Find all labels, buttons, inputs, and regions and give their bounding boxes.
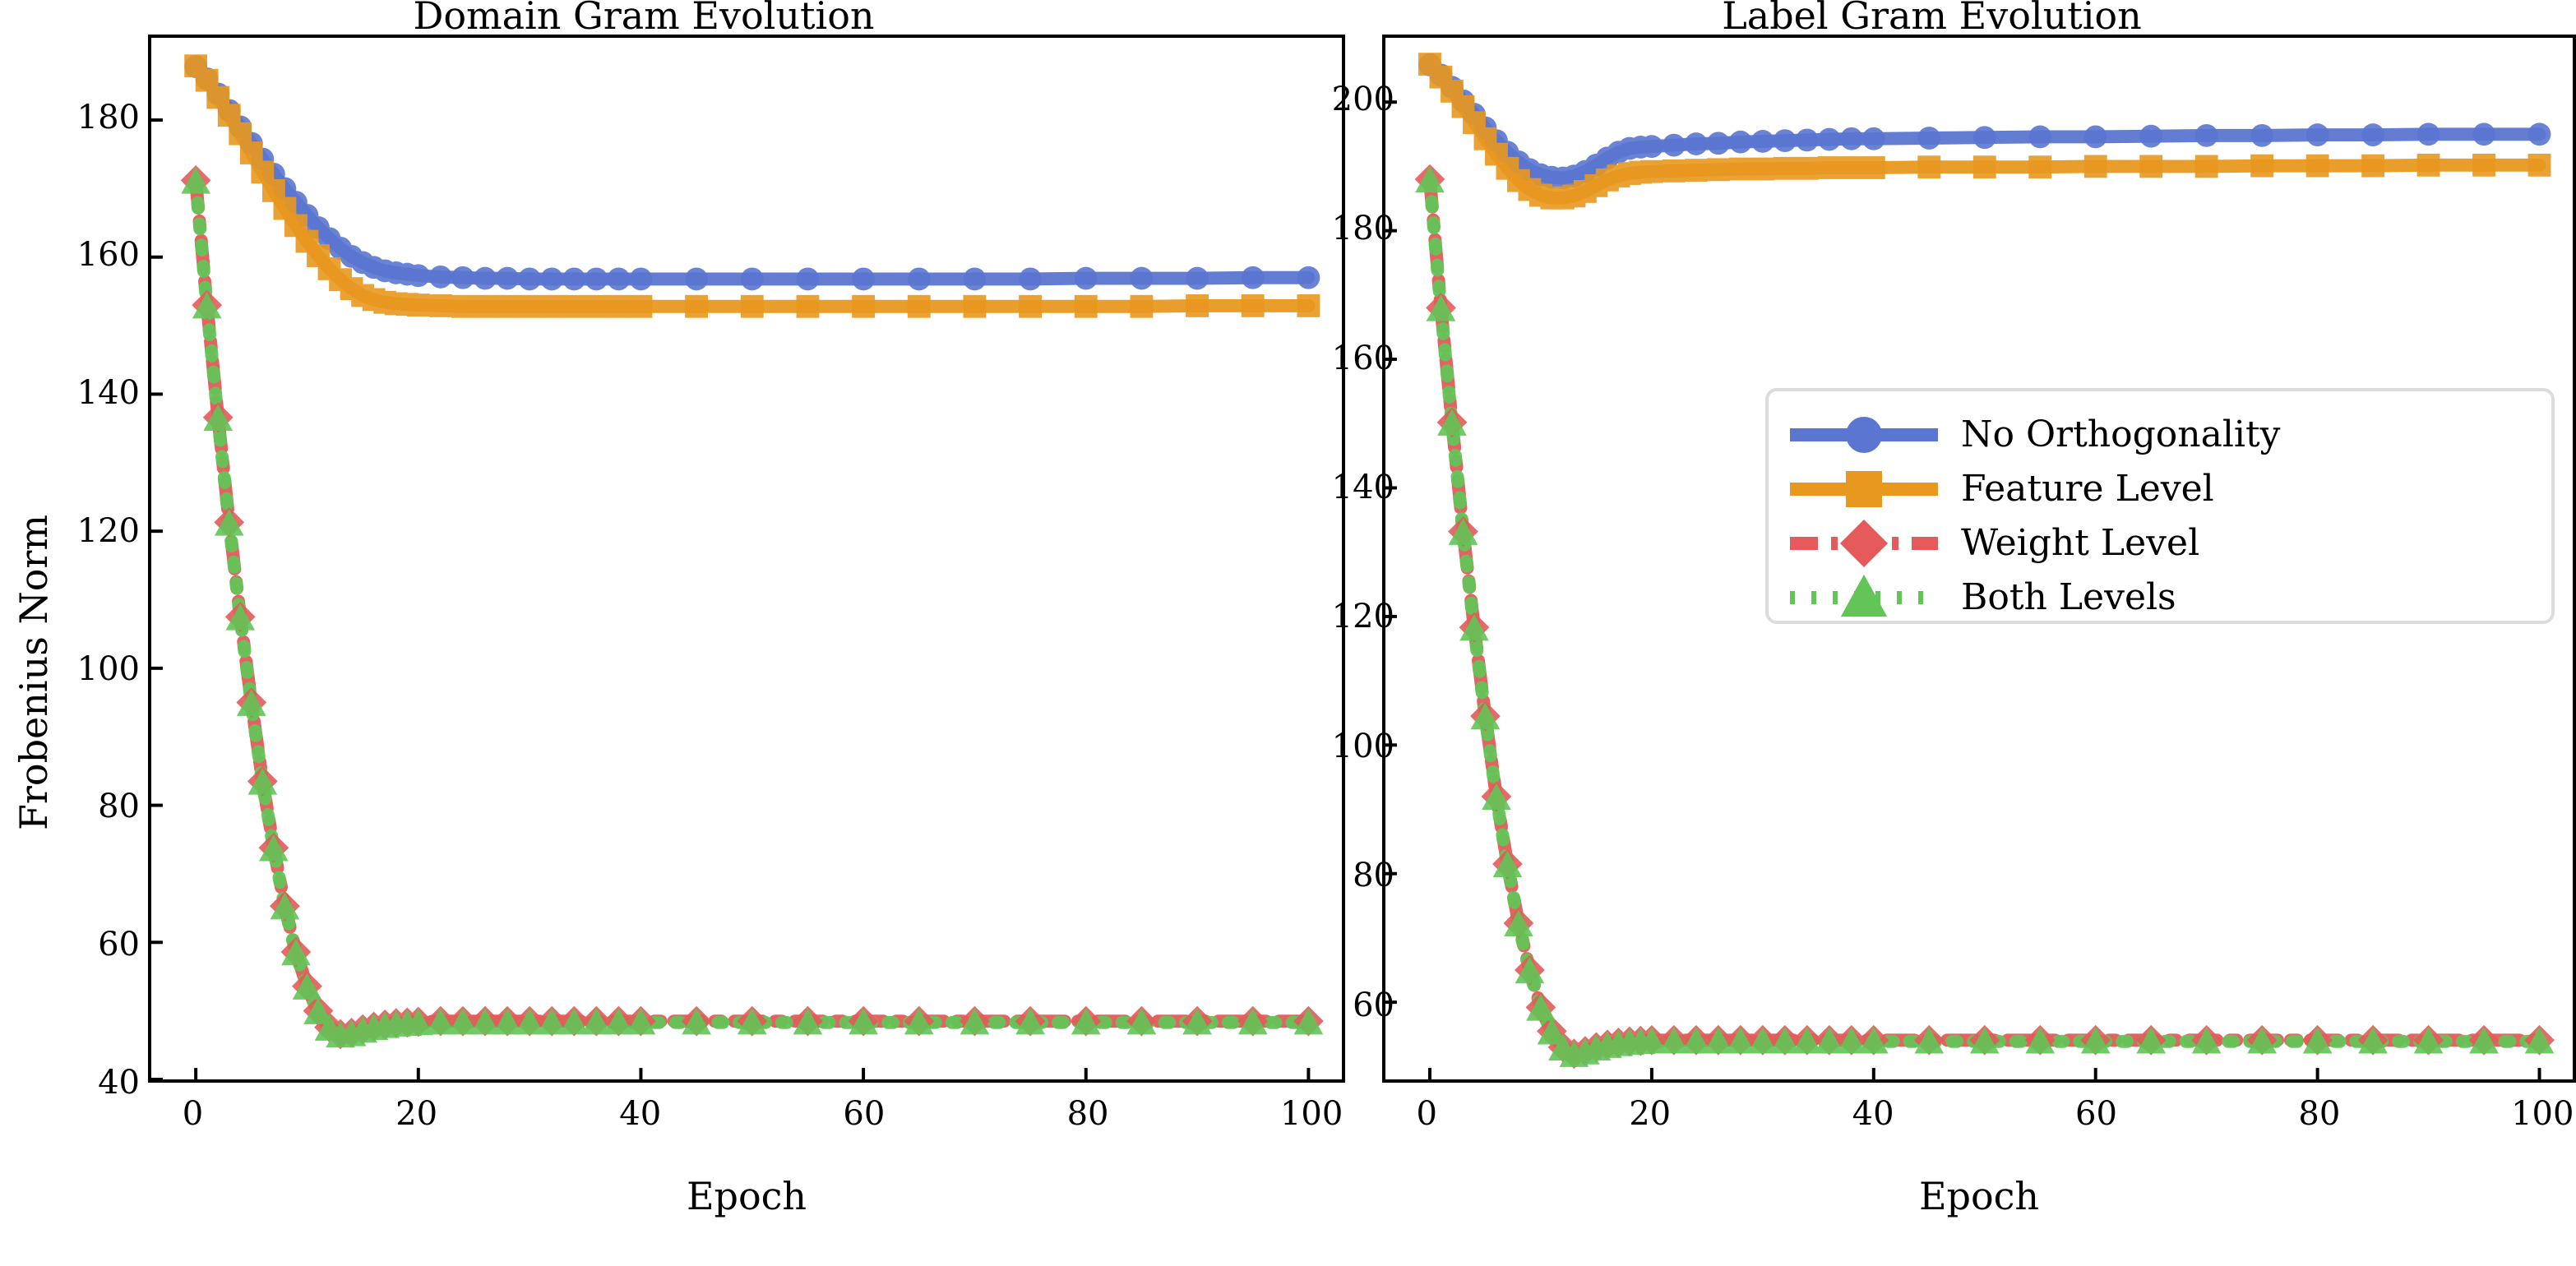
page-title: Domain Gram Evolution xyxy=(0,0,1288,35)
figure-root: Domain Gram Evolution 406080100120140160… xyxy=(0,0,2576,1266)
x-tick-label: 40 xyxy=(1807,1097,1939,1130)
legend-label: Weight Level xyxy=(1961,523,2199,564)
page-title-right: Label Gram Evolution xyxy=(1288,0,2576,35)
legend-swatch-diamond-icon xyxy=(1782,515,1946,572)
y-axis-ticks-right: 6080100120140160180200 xyxy=(1288,35,1394,1083)
x-tick-label: 20 xyxy=(1584,1097,1716,1130)
legend-label: Both Levels xyxy=(1961,577,2176,618)
y-tick-label: 60 xyxy=(98,928,140,961)
y-tick-label: 140 xyxy=(77,377,140,409)
x-tick-label: 0 xyxy=(1361,1097,1492,1130)
x-axis-label-left: Epoch xyxy=(148,1177,1345,1215)
legend-item-both-levels[interactable]: Both Levels xyxy=(1782,569,2176,626)
x-tick-label: 100 xyxy=(2477,1097,2576,1130)
y-tick-label: 60 xyxy=(1353,989,1394,1022)
legend-label: No Orthogonality xyxy=(1961,414,2281,455)
legend-label: Feature Level xyxy=(1961,469,2214,510)
y-tick-label: 120 xyxy=(1332,600,1394,633)
y-tick-label: 100 xyxy=(1332,730,1394,763)
legend-swatch-square-icon xyxy=(1782,460,1946,518)
x-tick-label: 60 xyxy=(2030,1097,2162,1130)
legend-swatch-circle-icon xyxy=(1782,406,1946,464)
x-tick-label: 80 xyxy=(2254,1097,2385,1130)
y-tick-label: 40 xyxy=(98,1066,140,1099)
y-tick-label: 200 xyxy=(1332,83,1394,116)
x-tick-label: 20 xyxy=(351,1097,483,1130)
y-tick-label: 80 xyxy=(98,790,140,823)
legend-item-weight-level[interactable]: Weight Level xyxy=(1782,515,2199,572)
x-tick-label: 40 xyxy=(575,1097,706,1130)
y-tick-label: 180 xyxy=(77,101,140,134)
legend-item-feature-level[interactable]: Feature Level xyxy=(1782,460,2214,518)
y-tick-label: 120 xyxy=(77,515,140,548)
chart-legend: No OrthogonalityFeature LevelWeight Leve… xyxy=(1765,388,2555,624)
x-tick-label: 80 xyxy=(1022,1097,1154,1130)
y-tick-label: 140 xyxy=(1332,471,1394,504)
y-tick-label: 180 xyxy=(1332,212,1394,245)
x-axis-label-right: Epoch xyxy=(1382,1177,2576,1215)
y-tick-label: 80 xyxy=(1353,859,1394,892)
legend-swatch-triangle-icon xyxy=(1782,569,1946,626)
legend-item-no-orthogonality[interactable]: No Orthogonality xyxy=(1782,406,2281,464)
y-tick-label: 160 xyxy=(77,238,140,271)
chart-canvas-left xyxy=(151,38,1342,1079)
y-tick-label: 100 xyxy=(77,653,140,686)
plot-area-left xyxy=(148,35,1345,1083)
x-tick-label: 0 xyxy=(127,1097,258,1130)
x-axis-ticks-left: 020406080100 xyxy=(148,1097,1345,1147)
y-axis-label-left: Frobenius Norm xyxy=(15,515,53,830)
x-axis-ticks-right: 020406080100 xyxy=(1382,1097,2576,1147)
y-tick-label: 160 xyxy=(1332,342,1394,375)
x-tick-label: 60 xyxy=(798,1097,930,1130)
